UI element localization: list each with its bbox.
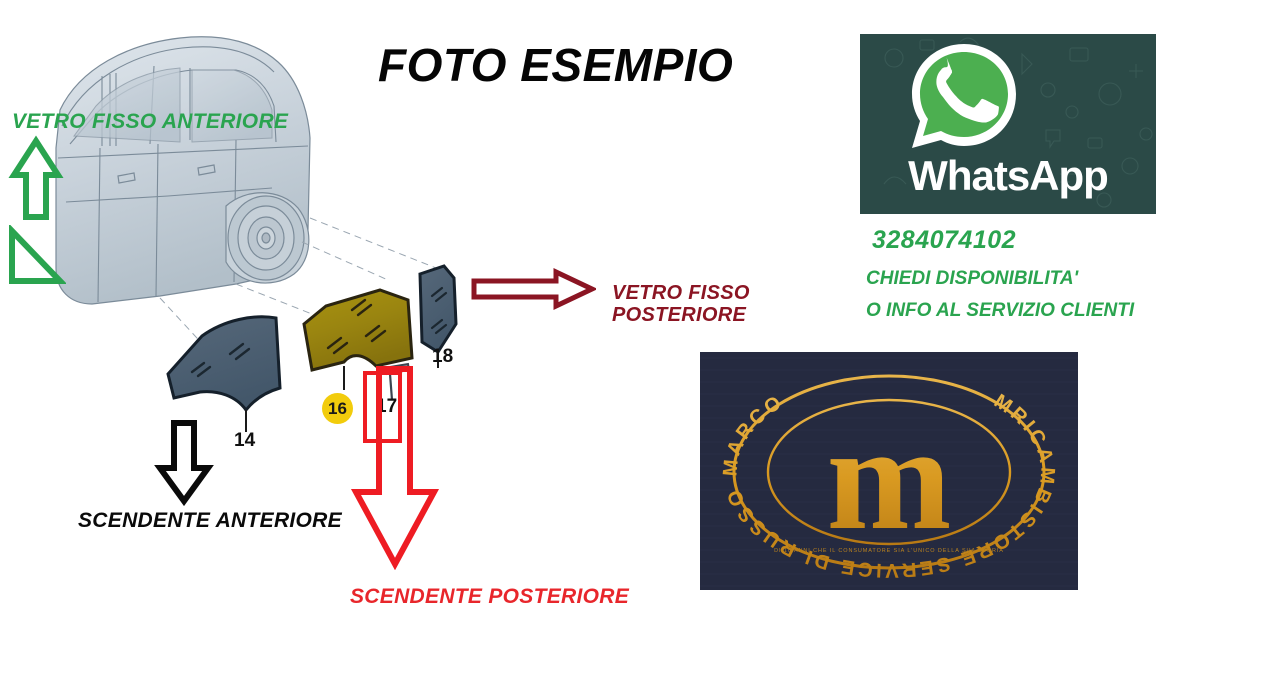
callout-number-14: 14: [234, 430, 255, 452]
green-up-arrow-icon: [8, 135, 64, 225]
svg-text:m: m: [827, 395, 952, 561]
shop-logo-monogram: m: [827, 395, 952, 561]
label-vetro-fisso-posteriore-line2: POSTERIORE: [612, 304, 750, 326]
whatsapp-phone-number: 3284074102: [872, 226, 1016, 255]
red-down-arrow-icon: [348, 364, 444, 570]
label-vetro-fisso-posteriore: VETRO FISSO POSTERIORE: [612, 282, 750, 327]
page-title: FOTO ESEMPIO: [378, 38, 733, 92]
whatsapp-banner: WhatsApp: [860, 34, 1156, 214]
black-down-arrow-icon: [152, 418, 216, 506]
whatsapp-wordmark: WhatsApp: [860, 152, 1156, 200]
dark-red-right-arrow-icon: [470, 268, 596, 310]
contact-service-text: O INFO AL SERVIZIO CLIENTI: [866, 300, 1134, 322]
green-triangle-icon: [6, 225, 66, 287]
label-scendente-anteriore: SCENDENTE ANTERIORE: [78, 509, 342, 533]
shop-logo-badge: MRICAMBISTORE SERVICE DI RUSSO MARCO m D…: [700, 352, 1078, 590]
shop-logo-subtitle: DI 10 ANNI CHE IL CONSUMATORE SIA L'UNIC…: [774, 548, 1004, 554]
label-vetro-fisso-anteriore: VETRO FISSO ANTERIORE: [12, 110, 288, 134]
screenshot-canvas: 14 17 18 16 FOTO ESEMPIO VETRO FISSO ANT…: [0, 0, 1264, 678]
label-scendente-posteriore: SCENDENTE POSTERIORE: [350, 585, 629, 609]
label-vetro-fisso-posteriore-line1: VETRO FISSO: [612, 282, 750, 304]
contact-availability-text: CHIEDI DISPONIBILITA': [866, 268, 1078, 290]
car-wheel: [226, 193, 309, 283]
shop-logo-artwork: MRICAMBISTORE SERVICE DI RUSSO MARCO m D…: [700, 352, 1078, 590]
part-14-front-drop-glass: [168, 317, 280, 432]
whatsapp-phone-bubble-icon: [908, 40, 1020, 152]
